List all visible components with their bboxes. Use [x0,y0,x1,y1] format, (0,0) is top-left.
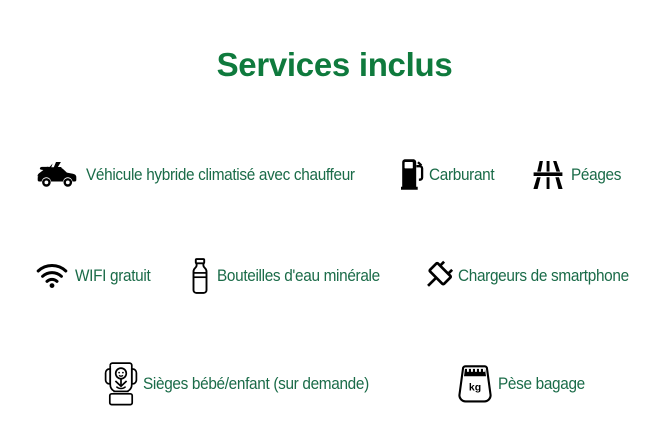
service-label: Chargeurs de smartphone [458,267,629,286]
service-item-fuel: Carburant [401,158,499,192]
water-bottle-icon [189,258,211,294]
luggage-scale-unit-text: kg [469,382,481,394]
power-plug-icon [422,260,454,292]
service-item-water-bottles: Bouteilles d'eau minérale [189,258,392,294]
services-row-2: WIFI gratuit Bouteilles d'eau minérale [0,258,669,294]
services-row-1: Véhicule hybride climatisé avec chauffeu… [0,158,669,192]
service-item-luggage-scale: kg Pèse bagage [458,365,591,403]
service-label: Sièges bébé/enfant (sur demande) [143,375,369,394]
wifi-icon [36,262,68,290]
service-item-hybrid-vehicle: Véhicule hybride climatisé avec chauffeu… [34,158,375,192]
service-label: Péages [571,166,621,185]
hybrid-car-icon [34,158,80,192]
fuel-pump-icon [401,158,425,192]
service-label: Carburant [429,166,494,185]
services-included-panel: Services inclus Véhicule hybride climati… [0,0,669,446]
service-label: WIFI gratuit [75,267,150,286]
service-label: Véhicule hybride climatisé avec chauffeu… [86,166,355,185]
page-title: Services inclus [0,46,669,84]
service-item-smartphone-chargers: Chargeurs de smartphone [422,260,642,292]
motorway-toll-icon [533,160,563,190]
luggage-scale-icon: kg [458,365,492,403]
service-item-child-seat: Sièges bébé/enfant (sur demande) [103,362,386,406]
service-label: Bouteilles d'eau minérale [217,267,380,286]
child-car-seat-icon [103,362,139,406]
service-item-toll: Péages [533,160,625,190]
service-item-wifi: WIFI gratuit [36,262,156,290]
service-label: Pèse bagage [498,375,585,394]
services-row-3: Sièges bébé/enfant (sur demande) kg Pèse… [0,362,669,406]
